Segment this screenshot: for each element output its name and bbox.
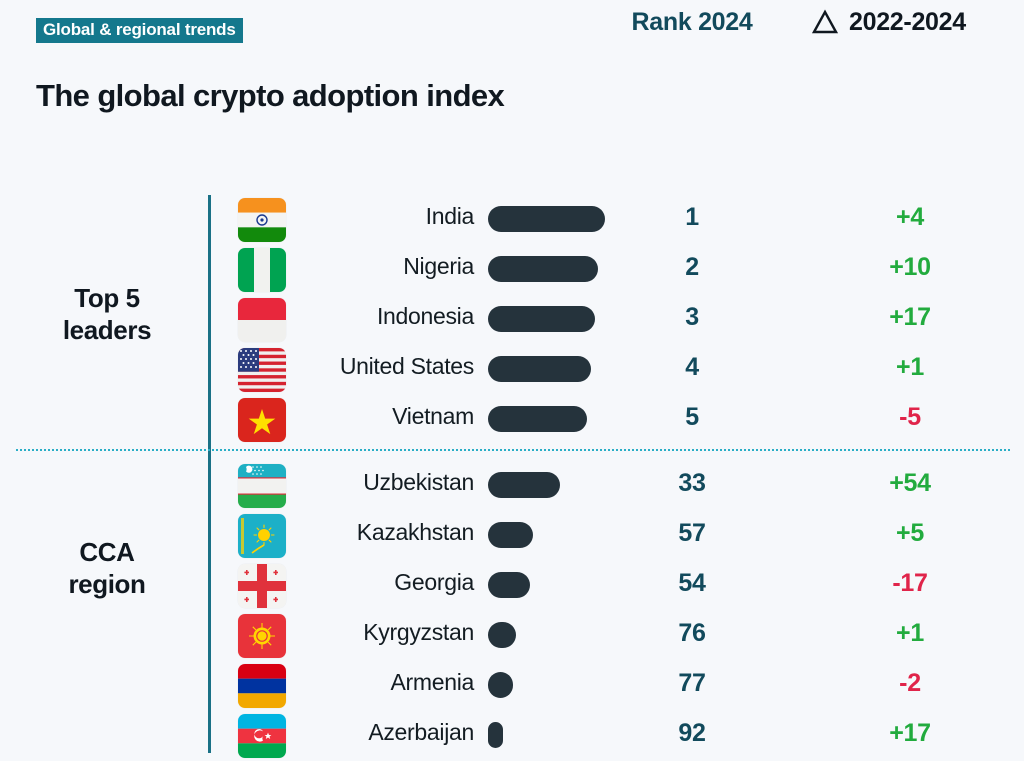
table-row: United States4+1 [0,345,1024,395]
kicker-badge-wrap: Global & regional trends [36,18,243,43]
delta-value: +1 [812,619,1008,648]
country-label: Azerbaijan [296,719,474,746]
index-bar [488,672,513,698]
rank-value: 77 [616,669,768,698]
delta-value: +1 [812,353,1008,382]
rank-value: 57 [616,519,768,548]
index-bar [488,472,560,498]
country-label: Kazakhstan [296,519,474,546]
delta-value: +54 [812,469,1008,498]
delta-value: +17 [812,303,1008,332]
rank-value: 33 [616,469,768,498]
index-bar [488,256,598,282]
country-label: India [296,203,474,230]
table-row: Uzbekistan33+54 [0,461,1024,511]
table-row: Indonesia3+17 [0,295,1024,345]
flag-united-states-icon [238,348,286,392]
column-header-rank: Rank 2024 [616,8,768,37]
chart-area: Top 5 leaders Top 5 leaders CCA region I… [0,192,1024,756]
country-label: Kyrgyzstan [296,619,474,646]
flag-georgia-icon [238,564,286,608]
delta-value: +4 [812,203,1008,232]
delta-value: -2 [812,669,1008,698]
index-bar [488,722,503,748]
delta-value: -5 [812,403,1008,432]
delta-value: -17 [812,569,1008,598]
rank-value: 92 [616,719,768,748]
rank-value: 4 [616,353,768,382]
group-divider [16,449,1010,451]
flag-kyrgyzstan-icon [238,614,286,658]
delta-value: +17 [812,719,1008,748]
table-row: Kyrgyzstan76+1 [0,611,1024,661]
table-row: Azerbaijan92+17 [0,711,1024,761]
table-row: Georgia54-17 [0,561,1024,611]
table-row: Nigeria2+10 [0,245,1024,295]
index-bar [488,622,516,648]
country-label: Vietnam [296,403,474,430]
page-title: The global crypto adoption index [36,78,504,114]
delta-value: +10 [812,253,1008,282]
country-label: United States [296,353,474,380]
flag-azerbaijan-icon [238,714,286,758]
index-bar [488,522,533,548]
index-bar [488,306,595,332]
rank-value: 3 [616,303,768,332]
flag-armenia-icon [238,664,286,708]
flag-india-icon [238,198,286,242]
country-label: Georgia [296,569,474,596]
index-bar [488,572,530,598]
flag-kazakhstan-icon [238,514,286,558]
index-bar [488,356,591,382]
table-row: Armenia77-2 [0,661,1024,711]
country-label: Nigeria [296,253,474,280]
rank-value: 2 [616,253,768,282]
country-label: Uzbekistan [296,469,474,496]
column-header-delta-label: 2022-2024 [849,8,966,37]
flag-indonesia-icon [238,298,286,342]
index-bar [488,406,587,432]
flag-nigeria-icon [238,248,286,292]
rank-value: 5 [616,403,768,432]
table-row: Kazakhstan57+5 [0,511,1024,561]
flag-vietnam-icon [238,398,286,442]
table-row: India1+4 [0,195,1024,245]
rank-value: 1 [616,203,768,232]
triangle-delta-icon [812,9,838,35]
rank-value: 54 [616,569,768,598]
delta-value: +5 [812,519,1008,548]
index-bar [488,206,605,232]
country-label: Armenia [296,669,474,696]
kicker-badge: Global & regional trends [36,18,243,43]
column-header-delta: 2022-2024 [812,8,1008,37]
country-label: Indonesia [296,303,474,330]
table-row: Vietnam5-5 [0,395,1024,445]
flag-uzbekistan-icon [238,464,286,508]
rank-value: 76 [616,619,768,648]
